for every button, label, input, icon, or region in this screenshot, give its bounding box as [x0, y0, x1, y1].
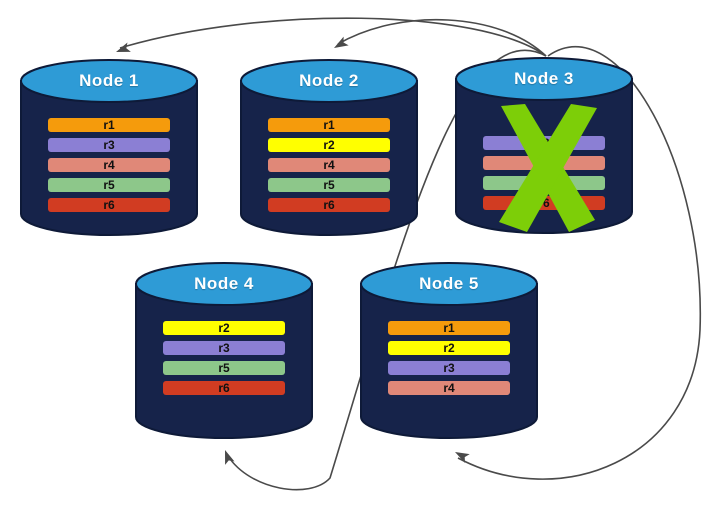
node-5-replica-list: r1r2r3r4	[360, 321, 538, 401]
edge-node3-to-node5-arrowhead	[453, 448, 470, 463]
replica-row[interactable]: r6	[483, 196, 605, 210]
replica-row[interactable]: r5	[48, 178, 170, 192]
node-2[interactable]: Node 2r1r2r4r5r6	[240, 60, 418, 235]
replica-row[interactable]: r4	[388, 381, 510, 395]
replica-row[interactable]: r5	[483, 176, 605, 190]
replica-label: r3	[443, 362, 454, 374]
replica-label: r6	[538, 197, 549, 209]
replica-row[interactable]: r3	[483, 136, 605, 150]
replica-label: r5	[538, 177, 549, 189]
node-4-title: Node 4	[135, 274, 313, 294]
replica-label: r1	[443, 322, 454, 334]
edge-node3-to-node2	[338, 20, 546, 56]
replica-label: r1	[103, 119, 114, 131]
replica-label: r6	[218, 382, 229, 394]
replica-label: r1	[323, 119, 334, 131]
node-1-replica-list: r1r3r4r5r6	[20, 118, 198, 218]
node-4[interactable]: Node 4r2r3r5r6	[135, 263, 313, 438]
edge-node3-to-node4-arrowhead	[220, 448, 234, 465]
node-3[interactable]: Node 3r3r4r5r6	[455, 58, 633, 233]
replica-row[interactable]: r1	[268, 118, 390, 132]
node-3-replica-list: r3r4r5r6	[455, 136, 633, 216]
replica-row[interactable]: r2	[268, 138, 390, 152]
replica-row[interactable]: r3	[48, 138, 170, 152]
node-3-title: Node 3	[455, 69, 633, 89]
replica-label: r4	[323, 159, 334, 171]
replica-label: r2	[218, 322, 229, 334]
node-1-title: Node 1	[20, 71, 198, 91]
replica-row[interactable]: r1	[388, 321, 510, 335]
replica-label: r3	[103, 139, 114, 151]
replica-row[interactable]: r3	[388, 361, 510, 375]
replica-label: r2	[443, 342, 454, 354]
replica-row[interactable]: r2	[163, 321, 285, 335]
replica-label: r5	[103, 179, 114, 191]
replica-label: r4	[538, 157, 549, 169]
node-2-title: Node 2	[240, 71, 418, 91]
diagram-canvas: Node 1r1r3r4r5r6Node 2r1r2r4r5r6Node 3r3…	[0, 0, 708, 508]
replica-row[interactable]: r6	[163, 381, 285, 395]
node-4-replica-list: r2r3r5r6	[135, 321, 313, 401]
replica-row[interactable]: r1	[48, 118, 170, 132]
replica-row[interactable]: r5	[163, 361, 285, 375]
edge-node3-to-node1-arrowhead	[114, 43, 131, 57]
replica-label: r4	[443, 382, 454, 394]
replica-label: r3	[538, 137, 549, 149]
replica-label: r6	[323, 199, 334, 211]
replica-label: r3	[218, 342, 229, 354]
node-2-replica-list: r1r2r4r5r6	[240, 118, 418, 218]
replica-row[interactable]: r3	[163, 341, 285, 355]
replica-row[interactable]: r4	[483, 156, 605, 170]
replica-row[interactable]: r5	[268, 178, 390, 192]
replica-label: r6	[103, 199, 114, 211]
replica-row[interactable]: r4	[268, 158, 390, 172]
node-5[interactable]: Node 5r1r2r3r4	[360, 263, 538, 438]
edge-node3-to-node2-arrowhead	[332, 37, 349, 53]
replica-label: r5	[218, 362, 229, 374]
edge-node3-to-node1	[120, 18, 546, 56]
replica-label: r4	[103, 159, 114, 171]
node-5-title: Node 5	[360, 274, 538, 294]
replica-label: r2	[323, 139, 334, 151]
replica-label: r5	[323, 179, 334, 191]
node-1[interactable]: Node 1r1r3r4r5r6	[20, 60, 198, 235]
replica-row[interactable]: r4	[48, 158, 170, 172]
replica-row[interactable]: r2	[388, 341, 510, 355]
replica-row[interactable]: r6	[268, 198, 390, 212]
replica-row[interactable]: r6	[48, 198, 170, 212]
